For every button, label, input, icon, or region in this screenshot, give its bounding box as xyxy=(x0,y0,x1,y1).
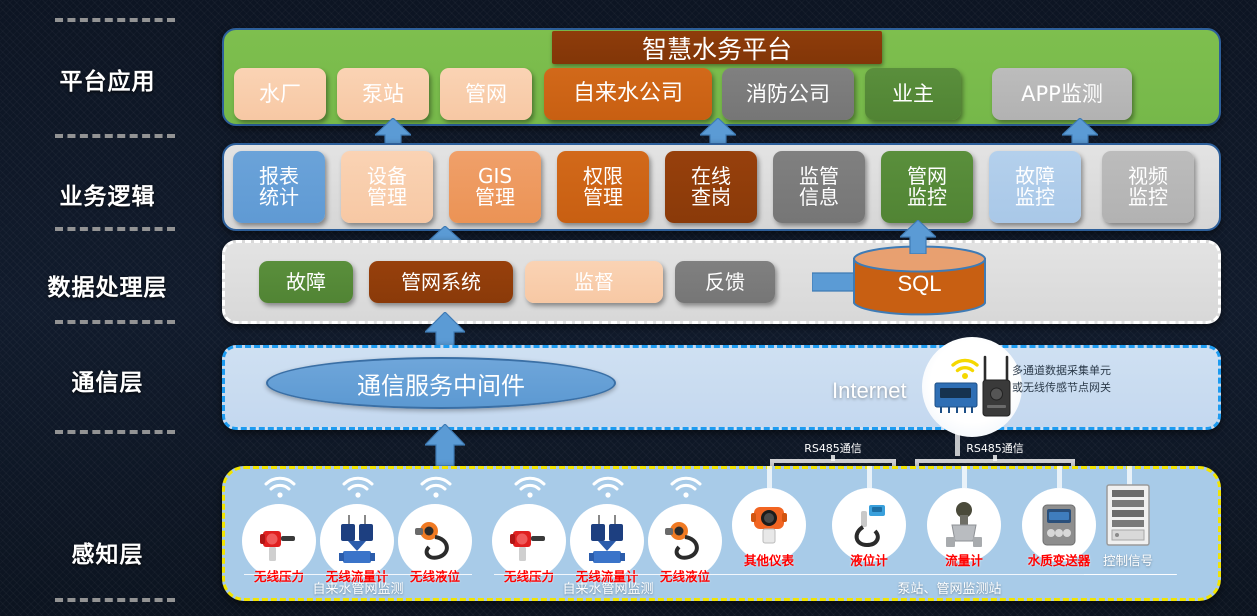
layer-label-sense: 感知层 xyxy=(0,535,215,569)
business-item-permission-mgmt[interactable]: 权限 管理 xyxy=(557,151,649,223)
business-item-report-stats[interactable]: 报表 统计 xyxy=(233,151,325,223)
architecture-diagram: 平台应用 业务逻辑 数据处理层 通信层 感知层 智慧水务平台 水厂 泵站 管网 … xyxy=(0,0,1257,616)
data-item-fault[interactable]: 故障 xyxy=(259,261,353,303)
data-layer: 故障 管网系统 监督 反馈 SQL xyxy=(222,240,1221,324)
platform-item-fire-company[interactable]: 消防公司 xyxy=(722,68,854,120)
wifi-icon xyxy=(591,474,625,496)
database-label: SQL xyxy=(852,271,987,297)
rs485-label-right: RS485通信 xyxy=(915,440,1075,456)
sense-layer: 无线压力 无线流量计 xyxy=(222,466,1221,601)
business-item-gis-mgmt[interactable]: GIS 管理 xyxy=(449,151,541,223)
data-item-pipe-system[interactable]: 管网系统 xyxy=(369,261,513,303)
layer-label-business: 业务逻辑 xyxy=(0,177,215,211)
internet-label: Internet xyxy=(832,378,907,404)
server-rack-icon xyxy=(1105,484,1151,546)
rail-separator xyxy=(55,18,175,22)
business-item-fault-monitor[interactable]: 故障 监控 xyxy=(989,151,1081,223)
wifi-icon xyxy=(953,360,977,370)
platform-title: 智慧水务平台 xyxy=(552,31,882,64)
gateway-device-group xyxy=(927,341,1019,431)
data-item-supervision[interactable]: 监督 xyxy=(525,261,663,303)
gateway-note: 多通道数据采集单元 或无线传感节点网关 xyxy=(1012,363,1192,396)
rail-separator xyxy=(55,227,175,231)
arrow-up-sense-to-comm xyxy=(425,424,465,466)
business-item-network-monitor[interactable]: 管网 监控 xyxy=(881,151,973,223)
group-separator xyxy=(244,574,472,575)
rail-separator xyxy=(55,134,175,138)
rail-separator xyxy=(55,430,175,434)
sensor-label: 其他仪表 xyxy=(724,550,814,569)
group-label-tapwater-2: 自来水管网监测 xyxy=(494,578,722,597)
wifi-icon xyxy=(513,474,547,496)
layer-label-data: 数据处理层 xyxy=(0,268,215,302)
control-separator xyxy=(1084,574,1176,575)
rs485-drop-line xyxy=(1057,466,1062,488)
platform-item-pipe-network[interactable]: 管网 xyxy=(440,68,532,120)
sensor-label: 流量计 xyxy=(919,550,1009,569)
wifi-icon xyxy=(669,474,703,496)
control-signal-item[interactable]: 控制信号 xyxy=(1102,484,1154,569)
group-separator xyxy=(494,574,722,575)
platform-item-owner[interactable]: 业主 xyxy=(865,68,961,120)
business-item-online-inspection[interactable]: 在线 查岗 xyxy=(665,151,757,223)
group-label-pump-station: 泵站、管网监测站 xyxy=(722,578,1177,597)
rs485-drop-line xyxy=(767,466,772,488)
platform-item-pump-station[interactable]: 泵站 xyxy=(337,68,429,120)
layer-label-platform: 平台应用 xyxy=(0,62,215,96)
platform-layer: 智慧水务平台 水厂 泵站 管网 自来水公司 消防公司 业主 APP监测 xyxy=(222,28,1221,126)
rail-separator xyxy=(55,320,175,324)
rs485-drop-line xyxy=(962,466,967,488)
control-signal-label: 控制信号 xyxy=(1078,546,1178,569)
group-label-tapwater-1: 自来水管网监测 xyxy=(244,578,472,597)
wifi-icon xyxy=(419,474,453,496)
platform-item-water-plant[interactable]: 水厂 xyxy=(234,68,326,120)
wifi-icon xyxy=(341,474,375,496)
data-item-feedback[interactable]: 反馈 xyxy=(675,261,775,303)
database-cylinder[interactable]: SQL xyxy=(852,245,987,317)
arrow-up-database-to-business xyxy=(900,220,936,254)
rs485-label-left: RS485通信 xyxy=(770,440,896,456)
business-item-device-mgmt[interactable]: 设备 管理 xyxy=(341,151,433,223)
business-layer: 报表 统计 设备 管理 GIS 管理 权限 管理 在线 查岗 监管 信息 管网 … xyxy=(222,143,1221,231)
rail-separator xyxy=(55,598,175,602)
comm-layer: 通信服务中间件 Internet xyxy=(222,345,1221,430)
business-item-video-monitor[interactable]: 视频 监控 xyxy=(1102,151,1194,223)
platform-item-water-company[interactable]: 自来水公司 xyxy=(544,68,712,120)
sensor-label: 液位计 xyxy=(824,550,914,569)
rs485-drop-line xyxy=(867,466,872,488)
business-item-supervision-info[interactable]: 监管 信息 xyxy=(773,151,865,223)
platform-item-app-monitor[interactable]: APP监测 xyxy=(992,68,1132,120)
gateway-drop-line xyxy=(955,430,960,456)
middleware-ellipse[interactable]: 通信服务中间件 xyxy=(266,357,616,409)
wifi-icon xyxy=(263,474,297,496)
layer-label-comm: 通信层 xyxy=(0,363,215,397)
